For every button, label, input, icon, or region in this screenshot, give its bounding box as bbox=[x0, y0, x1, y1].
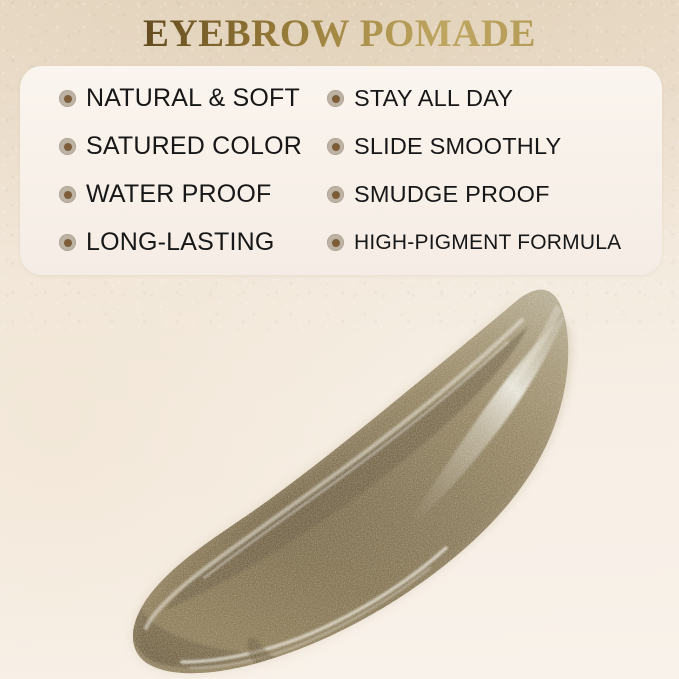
feature-label: STAY ALL DAY bbox=[354, 85, 513, 112]
feature-label: LONG-LASTING bbox=[86, 228, 275, 257]
feature-label: WATER PROOF bbox=[86, 180, 272, 209]
feature-label: SMUDGE PROOF bbox=[354, 181, 550, 208]
feature-item-natural-soft: NATURAL & SOFT bbox=[59, 75, 322, 123]
bullet-dot-icon bbox=[59, 138, 76, 155]
feature-label: NATURAL & SOFT bbox=[86, 84, 300, 113]
feature-label: SATURED COLOR bbox=[86, 132, 302, 161]
feature-item-long-lasting: LONG-LASTING bbox=[59, 219, 322, 267]
feature-item-slide-smoothly: SLIDE SMOOTHLY bbox=[327, 123, 662, 171]
feature-label: SLIDE SMOOTHLY bbox=[354, 133, 561, 160]
feature-label: HIGH-PIGMENT FORMULA bbox=[354, 231, 621, 255]
bullet-dot-icon bbox=[327, 186, 344, 203]
feature-item-smudge-proof: SMUDGE PROOF bbox=[327, 171, 662, 219]
bullet-dot-icon bbox=[59, 234, 76, 251]
feature-item-stay-all-day: STAY ALL DAY bbox=[327, 75, 662, 123]
feature-column-right: STAY ALL DAY SLIDE SMOOTHLY SMUDGE PROOF… bbox=[322, 66, 662, 275]
swatch-grain bbox=[0, 280, 679, 679]
feature-columns: NATURAL & SOFT SATURED COLOR WATER PROOF… bbox=[20, 66, 662, 275]
feature-item-high-pigment-formula: HIGH-PIGMENT FORMULA bbox=[327, 219, 662, 267]
feature-item-satured-color: SATURED COLOR bbox=[59, 123, 322, 171]
bullet-dot-icon bbox=[327, 234, 344, 251]
bullet-dot-icon bbox=[327, 138, 344, 155]
bullet-dot-icon bbox=[59, 90, 76, 107]
feature-card: NATURAL & SOFT SATURED COLOR WATER PROOF… bbox=[20, 66, 662, 275]
feature-item-water-proof: WATER PROOF bbox=[59, 171, 322, 219]
pomade-smear-swatch bbox=[0, 280, 679, 679]
bullet-dot-icon bbox=[59, 186, 76, 203]
bullet-dot-icon bbox=[327, 90, 344, 107]
product-swatch bbox=[0, 280, 679, 679]
swatch-body bbox=[0, 280, 679, 679]
product-feature-image: EYEBROW POMADE NATURAL & SOFT SATURED CO… bbox=[0, 0, 679, 679]
page-title: EYEBROW POMADE bbox=[0, 11, 679, 57]
feature-column-left: NATURAL & SOFT SATURED COLOR WATER PROOF… bbox=[20, 66, 322, 275]
